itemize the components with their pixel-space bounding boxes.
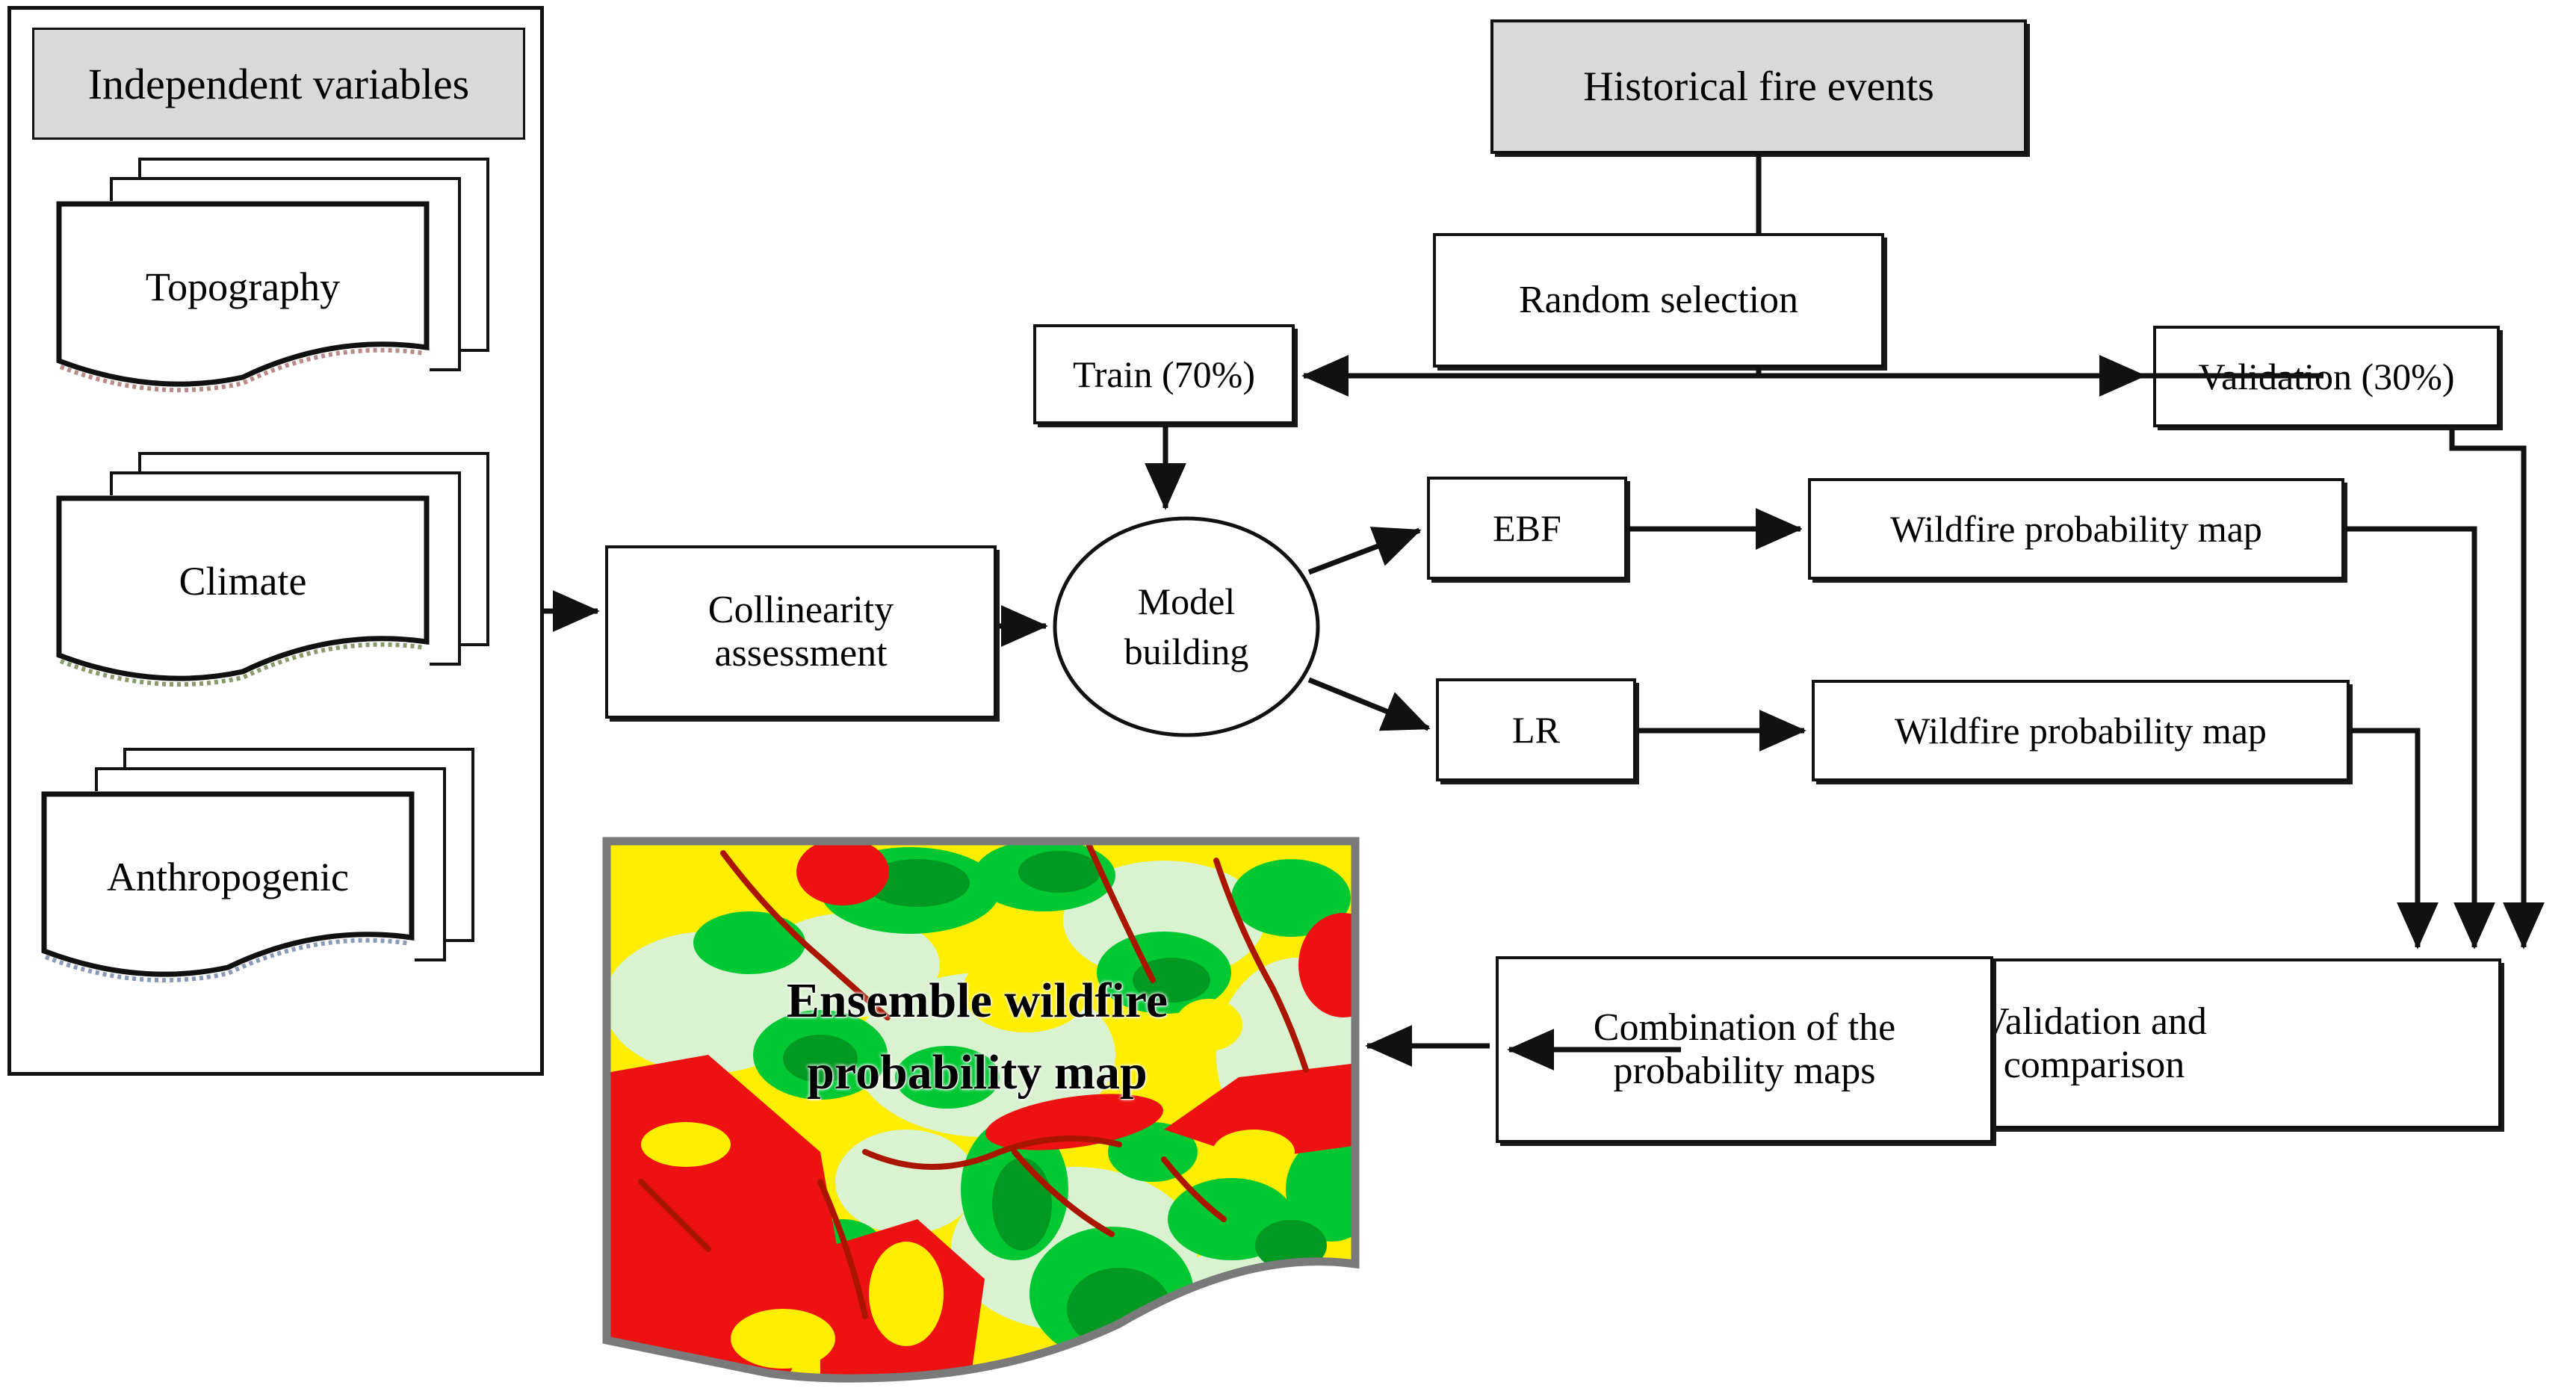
node-label-line2: comparison — [1996, 1044, 2193, 1087]
node-label-line1: Collinearity — [701, 589, 901, 632]
node-label: Train (70%) — [1065, 353, 1263, 395]
edge-ebfmap-to-validation — [2346, 529, 2474, 947]
node-collinearity-assessment[interactable]: Collinearity assessment — [605, 545, 997, 719]
node-label: Wildfire probability map — [1883, 508, 2270, 550]
node-label: Validation (30%) — [2191, 356, 2462, 397]
node-label-line2: probability maps — [1606, 1050, 1883, 1093]
node-wildfire-probability-map-lr[interactable]: Wildfire probability map — [1812, 680, 2350, 781]
node-historical-fire-events[interactable]: Historical fire events — [1490, 19, 2027, 154]
variable-group-topography[interactable]: Topography — [49, 158, 497, 404]
node-validation-30[interactable]: Validation (30%) — [2153, 326, 2500, 427]
edge-model-to-ebf — [1309, 530, 1419, 572]
edge-lrmap-to-validation — [2351, 731, 2418, 947]
node-label: Historical fire events — [1576, 63, 1942, 111]
node-label: LR — [1505, 709, 1567, 751]
node-wildfire-probability-map-ebf[interactable]: Wildfire probability map — [1808, 478, 2344, 580]
node-label: Wildfire probability map — [1887, 710, 2274, 752]
edge-validationsplit-to-validation — [2452, 429, 2524, 947]
variable-group-climate[interactable]: Climate — [49, 452, 497, 698]
node-model-building[interactable]: Model building — [1052, 515, 1321, 738]
node-label: EBF — [1485, 507, 1569, 549]
node-label-line1: Combination of the — [1586, 1006, 1903, 1050]
node-label-line2: building — [1124, 627, 1249, 678]
node-lr[interactable]: LR — [1436, 678, 1636, 781]
variable-group-label: Climate — [56, 495, 430, 667]
node-label-line1: Model — [1138, 577, 1236, 628]
edge-model-to-lr — [1309, 680, 1428, 728]
node-train-70[interactable]: Train (70%) — [1033, 324, 1295, 424]
map-raster — [596, 831, 1364, 1385]
variable-group-anthropogenic[interactable]: Anthropogenic — [34, 748, 482, 994]
panel-header: Independent variables — [32, 28, 525, 140]
node-ebf[interactable]: EBF — [1427, 477, 1627, 580]
ensemble-wildfire-probability-map[interactable]: Ensemble wildfire probability map — [596, 831, 1364, 1385]
node-label-line2: assessment — [707, 632, 894, 675]
node-combination[interactable]: Combination of the probability maps — [1496, 956, 1993, 1143]
variable-group-label: Anthropogenic — [41, 791, 415, 963]
node-label: Random selection — [1511, 279, 1806, 322]
node-label-line1: Validation and — [1974, 1000, 2214, 1044]
independent-variables-panel: Independent variables Topography — [7, 6, 544, 1076]
variable-group-label: Topography — [56, 201, 430, 373]
node-random-selection[interactable]: Random selection — [1433, 233, 1884, 368]
flowchart-canvas: Independent variables Topography — [0, 0, 2576, 1391]
